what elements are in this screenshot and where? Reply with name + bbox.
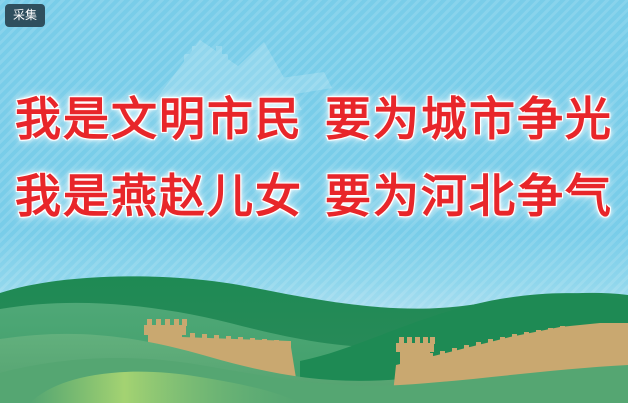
headline-line-2: 我是燕赵儿女要为河北争气: [0, 173, 628, 220]
banner-headline: 我是文明市民要为城市争光 我是燕赵儿女要为河北争气: [0, 96, 628, 220]
headline-line-2-part-2: 要为河北争气: [325, 169, 613, 223]
landscape-hills: [0, 253, 628, 403]
headline-line-1-part-2: 要为城市争光: [325, 92, 613, 146]
headline-line-1: 我是文明市民要为城市争光: [0, 96, 628, 143]
banner-canvas: 我是文明市民要为城市争光 我是燕赵儿女要为河北争气 采集: [0, 0, 628, 403]
collect-button[interactable]: 采集: [5, 4, 45, 27]
headline-line-2-part-1: 我是燕赵儿女: [15, 169, 303, 223]
headline-line-1-part-1: 我是文明市民: [15, 92, 303, 146]
